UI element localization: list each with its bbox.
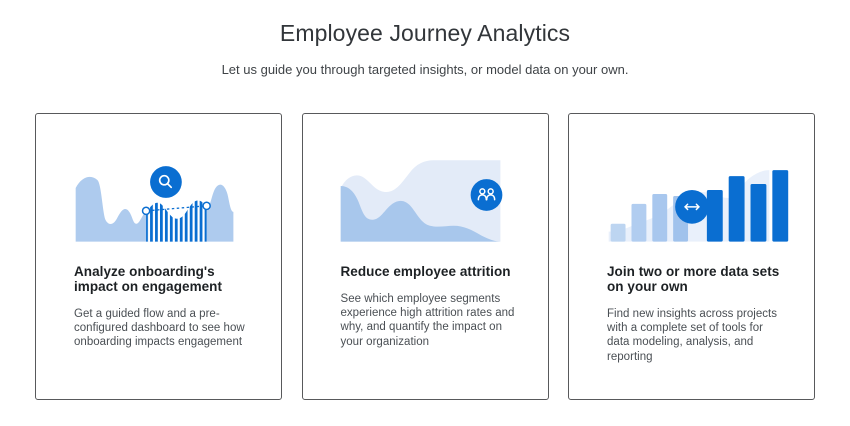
card-text-block: Join two or more data sets on your own F… [569, 264, 814, 364]
selection-striped-region[interactable] [145, 199, 206, 241]
bar-light-2 [631, 204, 646, 242]
illustration-stacked-area-chart [303, 114, 548, 264]
bar-dark-3 [751, 184, 767, 242]
page-subtitle: Let us guide you through targeted insigh… [0, 61, 850, 78]
card-title: Join two or more data sets on your own [607, 264, 785, 294]
badge-circle[interactable] [470, 179, 502, 211]
card-title: Reduce employee attrition [341, 264, 519, 279]
bar-dark-1 [707, 190, 723, 242]
card-description: Get a guided flow and a pre-configured d… [74, 307, 252, 350]
selection-handle-left[interactable] [143, 207, 150, 214]
card-description: Find new insights across projects with a… [607, 307, 785, 364]
card-text-block: Reduce employee attrition See which empl… [303, 264, 548, 349]
selection-handle-right[interactable] [203, 202, 210, 209]
illustration-area-chart-with-selection [36, 114, 281, 264]
stacked-area-chart-svg [303, 114, 548, 264]
page-title: Employee Journey Analytics [0, 18, 850, 48]
bar-light-1 [611, 224, 626, 242]
bar-chart-svg [569, 114, 814, 264]
card-analyze-onboarding[interactable]: Analyze onboarding's impact on engagemen… [35, 113, 282, 400]
badge-circle[interactable] [150, 166, 182, 198]
area-chart-svg [36, 114, 281, 264]
bar-dark-4 [772, 170, 788, 241]
bar-light-3 [652, 194, 667, 242]
card-text-block: Analyze onboarding's impact on engagemen… [36, 264, 281, 350]
card-description: See which employee segments experience h… [341, 292, 519, 349]
card-title: Analyze onboarding's impact on engagemen… [74, 264, 252, 294]
card-join-data-sets[interactable]: Join two or more data sets on your own F… [568, 113, 815, 400]
card-reduce-attrition[interactable]: Reduce employee attrition See which empl… [302, 113, 549, 400]
illustration-bar-chart-comparison [569, 114, 814, 264]
page-header: Employee Journey Analytics Let us guide … [0, 0, 850, 78]
bar-dark-2 [729, 176, 745, 241]
card-list: Analyze onboarding's impact on engagemen… [35, 113, 815, 400]
page-root: Employee Journey Analytics Let us guide … [0, 0, 850, 426]
